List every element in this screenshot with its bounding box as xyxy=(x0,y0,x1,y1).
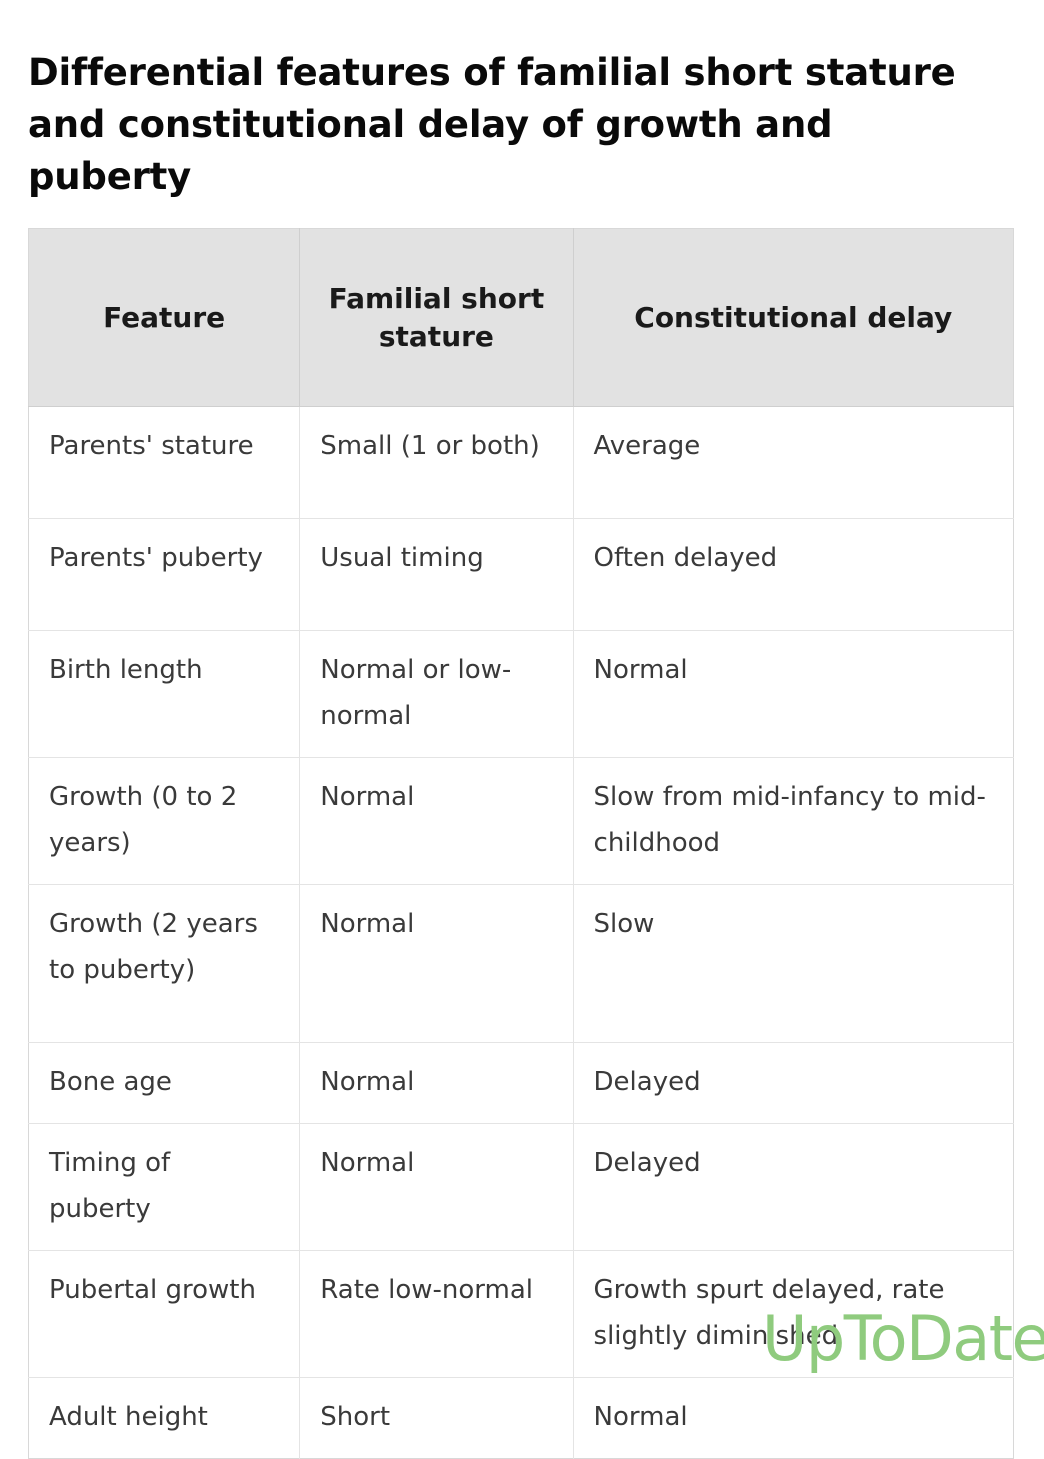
cell-familial-short-stature: Normal xyxy=(300,885,573,1043)
cell-feature: Growth (2 years to puberty) xyxy=(29,885,300,1043)
table-row: Adult height Short Normal xyxy=(29,1378,1014,1459)
column-header-feature: Feature xyxy=(29,229,300,407)
table-body: Parents' stature Small (1 or both) Avera… xyxy=(29,407,1014,1459)
cell-constitutional-delay: Often delayed xyxy=(573,519,1013,631)
table-row: Timing of puberty Normal Delayed xyxy=(29,1124,1014,1251)
table-header-row: Feature Familial short stature Constitut… xyxy=(29,229,1014,407)
table-row: Birth length Normal or low-normal Normal xyxy=(29,631,1014,758)
cell-feature: Parents' puberty xyxy=(29,519,300,631)
cell-familial-short-stature: Normal xyxy=(300,1124,573,1251)
table-row: Growth (0 to 2 years) Normal Slow from m… xyxy=(29,758,1014,885)
cell-feature: Timing of puberty xyxy=(29,1124,300,1251)
table-row: Bone age Normal Delayed xyxy=(29,1043,1014,1124)
cell-constitutional-delay: Growth spurt delayed, rate slightly dimi… xyxy=(573,1251,1013,1378)
cell-familial-short-stature: Short xyxy=(300,1378,573,1459)
cell-feature: Birth length xyxy=(29,631,300,758)
cell-familial-short-stature: Normal xyxy=(300,1043,573,1124)
table-row: Pubertal growth Rate low-normal Growth s… xyxy=(29,1251,1014,1378)
cell-feature: Pubertal growth xyxy=(29,1251,300,1378)
cell-familial-short-stature: Rate low-normal xyxy=(300,1251,573,1378)
cell-familial-short-stature: Normal xyxy=(300,758,573,885)
cell-familial-short-stature: Small (1 or both) xyxy=(300,407,573,519)
cell-constitutional-delay: Normal xyxy=(573,1378,1013,1459)
cell-feature: Parents' stature xyxy=(29,407,300,519)
cell-constitutional-delay: Slow xyxy=(573,885,1013,1043)
comparison-table: Feature Familial short stature Constitut… xyxy=(28,228,1014,1459)
page-title: Differential features of familial short … xyxy=(28,47,1008,203)
column-header-familial-short-stature: Familial short stature xyxy=(300,229,573,407)
cell-constitutional-delay: Average xyxy=(573,407,1013,519)
cell-constitutional-delay: Delayed xyxy=(573,1043,1013,1124)
cell-constitutional-delay: Normal xyxy=(573,631,1013,758)
cell-feature: Growth (0 to 2 years) xyxy=(29,758,300,885)
table-row: Parents' puberty Usual timing Often dela… xyxy=(29,519,1014,631)
cell-feature: Bone age xyxy=(29,1043,300,1124)
table-header: Feature Familial short stature Constitut… xyxy=(29,229,1014,407)
cell-feature: Adult height xyxy=(29,1378,300,1459)
column-header-constitutional-delay: Constitutional delay xyxy=(573,229,1013,407)
cell-constitutional-delay: Slow from mid-infancy to mid-childhood xyxy=(573,758,1013,885)
table-row: Growth (2 years to puberty) Normal Slow xyxy=(29,885,1014,1043)
document-page: Differential features of familial short … xyxy=(0,0,1044,1400)
table-row: Parents' stature Small (1 or both) Avera… xyxy=(29,407,1014,519)
cell-constitutional-delay: Delayed xyxy=(573,1124,1013,1251)
cell-familial-short-stature: Normal or low-normal xyxy=(300,631,573,758)
cell-familial-short-stature: Usual timing xyxy=(300,519,573,631)
